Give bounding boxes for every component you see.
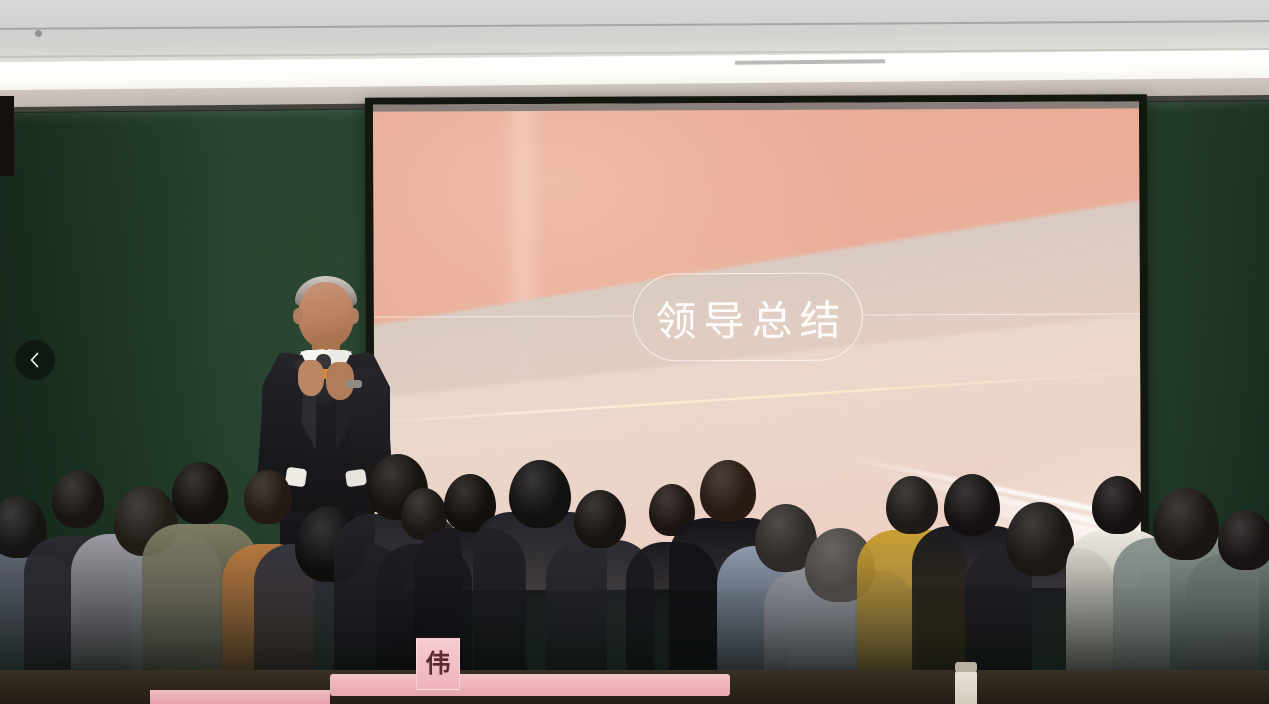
- chevron-left-icon: [25, 350, 45, 370]
- audience-member-head: [172, 462, 228, 524]
- bottle-cap: [955, 662, 977, 672]
- audience-member-head: [1218, 510, 1269, 570]
- audience-member-head: [1006, 502, 1074, 576]
- slide-title-pill: 领导总结: [633, 273, 863, 362]
- name-placard-text: 伟: [425, 652, 450, 677]
- previous-image-button[interactable]: [15, 340, 55, 380]
- presenter-hand: [298, 360, 324, 396]
- slide-title: 领导总结: [648, 287, 847, 348]
- name-placard: 伟: [416, 638, 460, 690]
- presenter-ear: [349, 308, 359, 324]
- presenter-watch: [346, 380, 362, 388]
- photo-viewer-stage: 领导总结 伟: [0, 0, 1269, 704]
- audience-member-head: [574, 490, 626, 548]
- name-placard-strip: [330, 674, 730, 696]
- ceiling-vent-dot: [35, 30, 42, 37]
- water-bottle: [955, 670, 977, 704]
- wall-corner-dark: [0, 96, 14, 176]
- name-placard-strip: [150, 690, 330, 704]
- ceiling-seam: [0, 20, 1269, 30]
- audience: 伟: [0, 440, 1269, 704]
- presenter-ear: [293, 308, 303, 324]
